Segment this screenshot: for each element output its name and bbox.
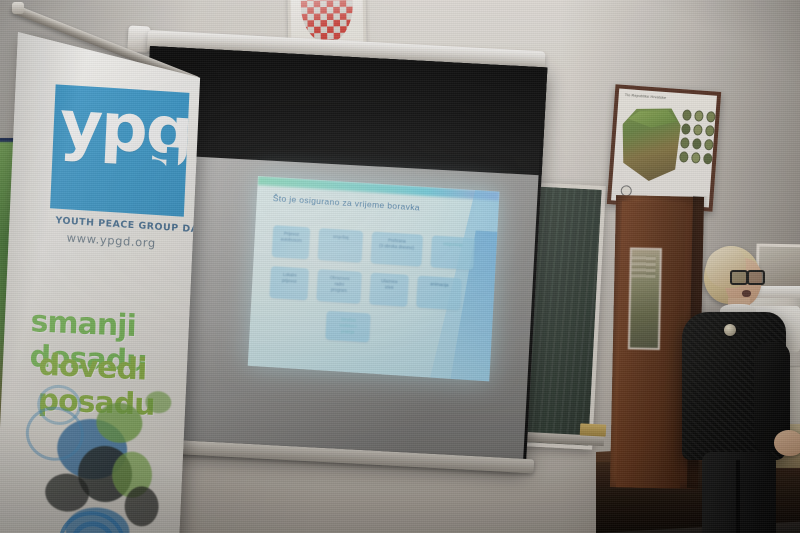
banner-splatter-artwork [12, 374, 196, 533]
slide-content-box: Lokalniprijevoz [269, 266, 309, 300]
slide-title: Što je osigurano za vrijeme boravka [273, 193, 421, 212]
slide-content-boxes: PrijevozautobusomsmještajPrehrana(3 obro… [263, 225, 475, 358]
brooch-icon [724, 324, 736, 336]
chalk-box [580, 423, 607, 436]
slide-content-box: smještaj [318, 228, 363, 263]
poster-legend-swatches [679, 109, 711, 164]
presenter-leg-separation [736, 460, 740, 533]
slide-content-box: osiguranje [430, 235, 475, 270]
glasses-icon [730, 270, 764, 281]
photo-scene: Tlo Republike Hrvatske Što je osigurano … [0, 0, 800, 533]
slide-content-box: Ulazniceizleti [369, 272, 409, 306]
banner-pole-cap [12, 2, 24, 14]
banner-content: ypg d YOUTH PEACE GROUP DANUBE www.ypgd.… [0, 32, 200, 533]
slide-box-row: Stručnovodstvo ipratnja [325, 311, 470, 349]
presenter-mouth [742, 290, 751, 297]
presenter [676, 246, 800, 533]
poster-title: Tlo Republike Hrvatske [625, 93, 667, 100]
projected-slide: Što je osigurano za vrijeme boravka Prij… [248, 176, 500, 381]
ypgd-website-url: www.ypgd.org [66, 231, 156, 251]
ypgd-logo-outline-letter: d [134, 141, 184, 207]
slide-content-box: animacija [416, 276, 462, 311]
slide-box-row: PrijevozautobusomsmještajPrehrana(3 obro… [272, 225, 475, 270]
slide-content-box: Obrazovniradniprogram [316, 269, 362, 304]
slide-content-box: Prehrana(3 obroka dnevno) [370, 231, 423, 266]
slide-content-box: Stručnovodstvo ipratnja [325, 311, 370, 342]
presenter-hand [774, 430, 800, 456]
door-notice-papers [631, 255, 655, 277]
ypgd-rollup-banner: ypg d YOUTH PEACE GROUP DANUBE www.ypgd.… [0, 32, 200, 533]
slide-box-row: LokalniprijevozObrazovniradniprogramUlaz… [269, 266, 472, 311]
slide-content-box: Prijevozautobusom [272, 225, 311, 259]
framed-soil-poster: Tlo Republike Hrvatske [607, 84, 722, 211]
